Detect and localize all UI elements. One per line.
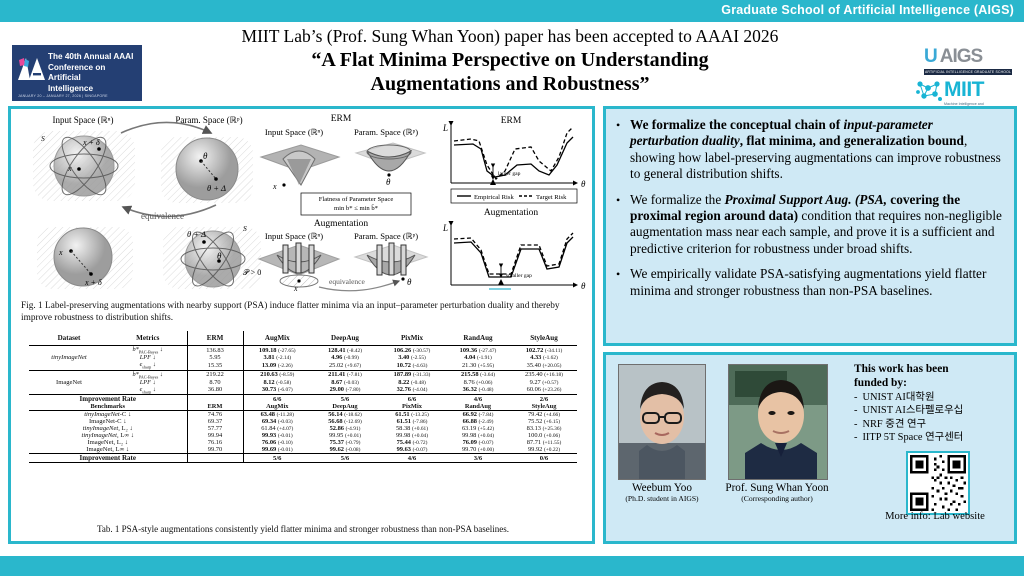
table-cell: 106.26 (-30.57): [379, 346, 445, 355]
figure-and-table-panel: Input Space (ℝⁿ) Param. Space (ℝᵖ) x x +…: [8, 106, 595, 544]
figure-1-caption: Fig. 1 Label-preserving augmentations wi…: [21, 301, 583, 324]
table-cell-erm: 36.80: [187, 386, 243, 395]
portrait-1-svg: [619, 365, 705, 479]
contribution-item: We formalize the conceptual chain of inp…: [630, 117, 1004, 183]
svg-text:θ + Δ: θ + Δ: [187, 229, 206, 239]
svg-text:x: x: [67, 164, 72, 173]
table-cell: 79.42 (+4.66): [511, 411, 577, 419]
table-cell: 30.73 (-6.07): [243, 386, 311, 395]
fig-param-blob-bottom: θ θ + Δ S: [163, 224, 261, 292]
table-cell: 102.72 (-34.11): [511, 346, 577, 355]
portrait-2-svg: [729, 365, 827, 479]
paper-title: “A Flat Minima Perspective on Understand…: [160, 48, 860, 96]
funding-heading-line1: This work has been: [854, 363, 949, 375]
table-cell: 63.19 (+5.42): [445, 425, 511, 432]
svg-text:L: L: [442, 223, 448, 233]
table-cell: 99.63 (-0.07): [379, 446, 445, 454]
table-row: tinyImageNet-C ↓74.7663.48 (-11.28)56.14…: [29, 411, 577, 419]
table-row: LPF ↓8.708.12 (-0.58)8.67 (-0.03)8.22 (-…: [29, 379, 577, 386]
th-pixmix-2: PixMix: [379, 403, 445, 411]
table-cell: 63.48 (-11.28): [243, 411, 311, 419]
table-cell: 99.70 (+0.00): [445, 446, 511, 454]
fig-input-blob-bottom: x x + δ: [37, 227, 133, 289]
table-cell: 36.32 (-0.48): [445, 386, 511, 395]
table-cell-erm: 8.70: [187, 379, 243, 386]
author-1-role: (Ph.D. student in AIGS): [610, 494, 714, 503]
th-erm: ERM: [187, 331, 243, 346]
fig-pa-gt-zero: 𝒫 > 0: [243, 268, 261, 277]
table-metric-label: ϵsharp ↓: [109, 386, 187, 395]
fig-label-input-space-1: Input Space (ℝⁿ): [53, 115, 114, 125]
table-benchmark-label: ImageNet, L₂ ↓: [29, 439, 187, 446]
table-cell: 10.72 (-4.63): [379, 361, 445, 370]
svg-text:x + δ: x + δ: [82, 138, 100, 147]
table-metric-label: LPF ↓: [109, 354, 187, 361]
table-cell: 75.37 (-0.79): [311, 439, 379, 446]
funding-item: IITP 5T Space 연구센터: [854, 431, 963, 444]
table-cell: 109.18 (-27.65): [243, 346, 311, 355]
table-row: ImageNet, L₂ ↓76.1676.06 (-0.10)75.37 (-…: [29, 439, 577, 446]
svg-text:θ + Δ: θ + Δ: [207, 183, 226, 193]
table-dataset-label: tinyImageNet: [29, 346, 109, 371]
table-cell: 9.27 (+0.57): [511, 379, 577, 386]
improvement-rate-value: 3/6: [445, 454, 511, 463]
table-cell: 4.96 (-0.99): [311, 354, 379, 361]
table-benchmark-label: tinyImageNet, L₂ ↓: [29, 425, 187, 432]
authors-and-funding-panel: Weebum Yoo (Ph.D. student in AIGS) Prof.…: [603, 352, 1017, 544]
table-cell: 75.52 (+6.15): [511, 418, 577, 425]
aaai-conference-logo: The 40th Annual AAAI Conference on Artif…: [12, 45, 142, 101]
table-cell-erm: 136.83: [187, 346, 243, 355]
th-erm-2: ERM: [187, 403, 243, 411]
th-deepaug-2: DeepAug: [311, 403, 379, 411]
contribution-item: We formalize the Proximal Support Aug. (…: [630, 192, 1004, 258]
th-deepaug: DeepAug: [311, 331, 379, 346]
table-cell: 21.30 (+5.95): [445, 361, 511, 370]
table-cell: 8.22 (-0.48): [379, 379, 445, 386]
table-row: ImageNetb*PAC-Bayes ↓219.22210.63 (-8.59…: [29, 370, 577, 379]
table-metric-label: b*PAC-Bayes ↓: [109, 346, 187, 355]
table-cell: 99.92 (+0.22): [511, 446, 577, 454]
author-2-role: (Corresponding author): [718, 494, 836, 503]
table-metric-label: LPF ↓: [109, 379, 187, 386]
fig-param-blob-top: θ θ + Δ: [161, 137, 253, 203]
table-cell: 61.51 (-13.25): [379, 411, 445, 419]
results-table: Dataset Metrics ERM AugMix DeepAug PixMi…: [29, 331, 577, 463]
table-cell: 66.92 (-7.84): [445, 411, 511, 419]
table-benchmark-label: ImageNet, L∞ ↓: [29, 446, 187, 454]
improvement-rate-value: 5/6: [243, 454, 311, 463]
improvement-rate-value: 5/6: [311, 454, 379, 463]
svg-text:θ: θ: [581, 179, 586, 189]
svg-text:θ: θ: [407, 277, 412, 287]
table-cell-erm: 76.16: [187, 439, 243, 446]
table-cell: 69.34 (-0.03): [243, 418, 311, 425]
table-cell: 60.06 (+23.26): [511, 386, 577, 395]
table-cell: 35.40 (+20.05): [511, 361, 577, 370]
author-2-name: Prof. Sung Whan Yoon: [718, 482, 836, 494]
improvement-rate-value: 6/6: [243, 395, 311, 404]
table-cell: 83.13 (+25.36): [511, 425, 577, 432]
svg-text:x: x: [272, 182, 277, 191]
improvement-rate-row: Improvement Rate5/65/64/63/60/6: [29, 454, 577, 463]
table-cell: 3.40 (-2.55): [379, 354, 445, 361]
fig-flatness-line2: min b* ≤ min b̄*: [334, 205, 378, 212]
table-row: ImageNet-C ↓69.3769.34 (-0.03)56.68 (-12…: [29, 418, 577, 425]
aaai-logo-text: The 40th Annual AAAI Conference on Artif…: [48, 52, 140, 94]
improvement-erm-blank: [187, 454, 243, 463]
table-cell: 8.76 (+0.06): [445, 379, 511, 386]
table-cell: 13.09 (-2.26): [243, 361, 311, 370]
th-augmix: AugMix: [243, 331, 311, 346]
th-randaug-2: RandAug: [445, 403, 511, 411]
fig-sharp-minima-surface: x: [261, 145, 339, 191]
unist-aigs-logo: U AIGS ARTIFICIAL INTELLIGENCE GRADUATE …: [924, 46, 1012, 74]
table-cell: 99.95 (+0.01): [311, 432, 379, 439]
table-cell: 25.02 (+9.67): [311, 361, 379, 370]
funding-heading: This work has been funded by:: [854, 363, 1014, 390]
table-cell: 32.76 (-4.04): [379, 386, 445, 395]
table-cell: 210.63 (-8.59): [243, 370, 311, 379]
table-cell-erm: 99.94: [187, 432, 243, 439]
svg-text:Param. Space (ℝᵖ): Param. Space (ℝᵖ): [354, 231, 418, 241]
table-cell: 75.44 (-0.72): [379, 439, 445, 446]
table-dataset-label: ImageNet: [29, 370, 109, 395]
table-cell: 76.06 (-0.10): [243, 439, 311, 446]
improvement-rate-value: 4/6: [445, 395, 511, 404]
aigs-logo-u: U: [924, 46, 938, 68]
aaai-triangle-icon: [16, 56, 46, 82]
svg-text:θ: θ: [217, 251, 222, 261]
qr-code[interactable]: [906, 451, 970, 515]
th-metrics: Metrics: [109, 331, 187, 346]
svg-text:θ: θ: [203, 151, 208, 161]
table-cell: 211.41 (-7.81): [311, 370, 379, 379]
improvement-rate-value: 2/6: [511, 395, 577, 404]
table-cell: 61.84 (+4.07): [243, 425, 311, 432]
table-row: ϵsharp ↓15.3513.09 (-2.26)25.02 (+9.67)1…: [29, 361, 577, 370]
fig-smaller-gap-label: smaller gap: [506, 273, 532, 279]
figure-1: Input Space (ℝⁿ) Param. Space (ℝᵖ) x x +…: [11, 109, 592, 299]
table-cell-erm: 219.22: [187, 370, 243, 379]
table-cell: 4.04 (-1.91): [445, 354, 511, 361]
improvement-erm-blank: [187, 395, 243, 404]
table-section-1-body: tinyImageNetb*PAC-Bayes ↓136.83109.18 (-…: [29, 346, 577, 404]
fig-aug-label-mid: Augmentation: [314, 219, 369, 229]
table-section-2-body: BenchmarksERMAugMixDeepAugPixMixRandAugS…: [29, 403, 577, 463]
svg-text:θ: θ: [581, 281, 586, 291]
svg-text:x: x: [293, 284, 298, 293]
more-info-text[interactable]: More info: Lab website: [850, 511, 1020, 522]
improvement-rate-value: 5/6: [311, 395, 379, 404]
svg-text:x + δ: x + δ: [84, 278, 102, 287]
th-dataset: Dataset: [29, 331, 109, 346]
table-cell: 76.09 (-0.07): [445, 439, 511, 446]
table-cell: 29.00 (-7.80): [311, 386, 379, 395]
photo-weebum-yoo: [618, 364, 706, 480]
th-randaug: RandAug: [445, 331, 511, 346]
author-1-name: Weebum Yoo: [610, 482, 714, 494]
table-cell: 56.14 (-18.62): [311, 411, 379, 419]
table-cell: 87.71 (+11.55): [511, 439, 577, 446]
fig-erm-loss-plot: ERM L θ larger gap: [442, 116, 586, 189]
table-cell: 4.33 (-1.62): [511, 354, 577, 361]
fig-erm-label-mid: ERM: [331, 114, 352, 124]
table-cell: 52.86 (-4.91): [311, 425, 379, 432]
table-benchmark-label: tinyImageNet, L∞ ↓: [29, 432, 187, 439]
table-cell: 99.98 (+0.04): [379, 432, 445, 439]
table-cell: 187.89 (-31.33): [379, 370, 445, 379]
svg-text:L: L: [442, 123, 448, 133]
table-row: tinyImageNet, L₂ ↓57.7761.84 (+4.07)52.8…: [29, 425, 577, 432]
top-banner: Graduate School of Artificial Intelligen…: [0, 0, 1024, 22]
fig-larger-gap-label: larger gap: [498, 171, 521, 177]
table-cell: 66.88 (-2.49): [445, 418, 511, 425]
table-cell: 109.36 (-27.47): [445, 346, 511, 355]
table-cell-erm: 74.76: [187, 411, 243, 419]
table-benchmark-label: ImageNet-C ↓: [29, 418, 187, 425]
contribution-item: We empirically validate PSA-satisfying a…: [630, 266, 1004, 299]
funding-item: UNIST AI대학원: [854, 391, 963, 404]
table-cell: 58.38 (+0.61): [379, 425, 445, 432]
table-row: LPF ↓5.953.81 (-2.14)4.96 (-0.99)3.40 (-…: [29, 354, 577, 361]
table-metric-label: b*PAC-Bayes ↓: [109, 370, 187, 379]
table-header-row-1: Dataset Metrics ERM AugMix DeepAug PixMi…: [29, 331, 577, 346]
aigs-logo-tagline: ARTIFICIAL INTELLIGENCE GRADUATE SCHOOL: [924, 69, 1012, 75]
fig-flatness-line1: Flatness of Parameter Space: [319, 196, 394, 203]
table-cell: 99.62 (-0.08): [311, 446, 379, 454]
th-augmix-2: AugMix: [243, 403, 311, 411]
contributions-list: We formalize the conceptual chain of inp…: [612, 117, 1004, 299]
th-pixmix: PixMix: [379, 331, 445, 346]
table-cell: 61.51 (-7.86): [379, 418, 445, 425]
fig-label-param-space-1: Param. Space (ℝᵖ): [175, 115, 242, 125]
aigs-banner-text: Graduate School of Artificial Intelligen…: [721, 3, 1014, 17]
svg-text:Input Space (ℝⁿ): Input Space (ℝⁿ): [265, 127, 323, 137]
improvement-rate-label: Improvement Rate: [29, 395, 187, 404]
table-header-row-2: BenchmarksERMAugMixDeepAugPixMixRandAugS…: [29, 403, 577, 411]
table-row: ImageNet, L∞ ↓99.7099.69 (-0.01)99.62 (-…: [29, 446, 577, 454]
table-cell: 215.58 (-3.64): [445, 370, 511, 379]
table-metric-label: ϵsharp ↓: [109, 361, 187, 370]
svg-text:Augmentation: Augmentation: [484, 208, 539, 218]
table-cell: 8.12 (-0.58): [243, 379, 311, 386]
svg-text:x: x: [58, 248, 63, 257]
fig-equivalence-2: equivalence: [329, 277, 365, 286]
svg-text:S: S: [243, 224, 247, 233]
poster-header: The 40th Annual AAAI Conference on Artif…: [0, 22, 1024, 104]
table-cell: 128.41 (-8.42): [311, 346, 379, 355]
th-styleaug-2: StyleAug: [511, 403, 577, 411]
aaai-logo-dates: JANUARY 20 – JANUARY 27, 2026 | SINGAPOR…: [18, 94, 138, 98]
improvement-rate-value: 4/6: [379, 454, 445, 463]
acceptance-headline: MIIT Lab’s (Prof. Sung Whan Yoon) paper …: [160, 26, 860, 47]
table-benchmark-label: tinyImageNet-C ↓: [29, 411, 187, 419]
fig-legend-target: Target Risk: [536, 194, 567, 201]
table-cell-erm: 5.95: [187, 354, 243, 361]
table-cell: 3.81 (-2.14): [243, 354, 311, 361]
table-cell: 8.67 (-0.03): [311, 379, 379, 386]
svg-text:S: S: [41, 134, 45, 143]
table-cell-erm: 69.37: [187, 418, 243, 425]
svg-text:ERM: ERM: [501, 116, 522, 126]
table-cell-erm: 57.77: [187, 425, 243, 432]
funding-list: UNIST AI대학원UNIST AI스타펠로우십NRF 중견 연구IITP 5…: [854, 391, 963, 445]
table-cell: 99.93 (-0.01): [243, 432, 311, 439]
aigs-logo-row: U AIGS: [924, 46, 1012, 68]
funding-item: NRF 중견 연구: [854, 418, 963, 431]
improvement-rate-value: 6/6: [379, 395, 445, 404]
paper-title-line2: Augmentations and Robustness”: [160, 72, 860, 96]
table-row: ϵsharp ↓36.8030.73 (-6.07)29.00 (-7.80)3…: [29, 386, 577, 395]
table-1-caption: Tab. 1 PSA-style augmentations consisten…: [23, 524, 583, 535]
bottom-banner: [0, 556, 1024, 576]
improvement-rate-label: Improvement Rate: [29, 454, 187, 463]
th-styleaug: StyleAug: [511, 331, 577, 346]
photo-sung-whan-yoon: [728, 364, 828, 480]
svg-text:Param. Space (ℝᵖ): Param. Space (ℝᵖ): [354, 127, 418, 137]
table-cell: 235.40 (+16.18): [511, 370, 577, 379]
fig-input-blob-top: x x + δ S: [33, 131, 135, 201]
network-dots-icon: [916, 80, 942, 102]
th-benchmarks: Benchmarks: [29, 403, 187, 411]
table-row: tinyImageNetb*PAC-Bayes ↓136.83109.18 (-…: [29, 346, 577, 355]
svg-text:θ: θ: [386, 177, 391, 187]
table-cell: 99.98 (+0.04): [445, 432, 511, 439]
paper-title-line1: “A Flat Minima Perspective on Understand…: [160, 48, 860, 72]
fig-augmentation-loss-plot: Augmentation L θ smaller gap: [442, 208, 586, 291]
table-cell: 56.68 (-12.69): [311, 418, 379, 425]
table-row: tinyImageNet, L∞ ↓99.9499.93 (-0.01)99.9…: [29, 432, 577, 439]
miit-logo-word: MIIT: [944, 78, 1012, 102]
figure-1-svg: Input Space (ℝⁿ) Param. Space (ℝᵖ) x x +…: [11, 109, 592, 299]
svg-text:Input Space (ℝⁿ): Input Space (ℝⁿ): [265, 231, 323, 241]
table-cell-erm: 99.70: [187, 446, 243, 454]
funding-item: UNIST AI스타펠로우십: [854, 404, 963, 417]
qr-code-svg: [910, 455, 966, 511]
table-cell-erm: 15.35: [187, 361, 243, 370]
fig-legend-empirical: Empirical Risk: [474, 194, 514, 201]
aigs-logo-word: AIGS: [940, 46, 982, 68]
funding-heading-line2: funded by:: [854, 377, 907, 389]
table-cell: 99.69 (-0.01): [243, 446, 311, 454]
fig-sharp-param-bowl: θ: [356, 143, 425, 187]
improvement-rate-value: 0/6: [511, 454, 577, 463]
table-cell: 100.0 (+0.06): [511, 432, 577, 439]
improvement-rate-row: Improvement Rate6/65/66/64/62/6: [29, 395, 577, 404]
contributions-panel: We formalize the conceptual chain of inp…: [603, 106, 1017, 346]
fig-flat-param-bowl: θ: [355, 243, 427, 287]
fig-equivalence-1: equivalence: [141, 211, 184, 221]
